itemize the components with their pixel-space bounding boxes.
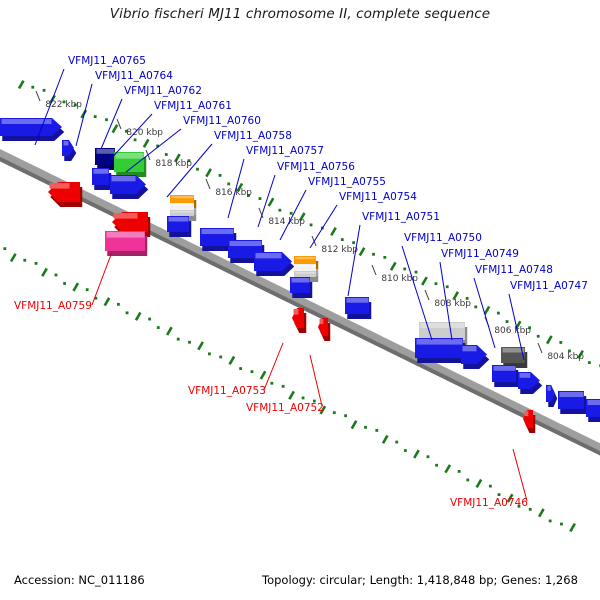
- gene-feature-forward[interactable]: [558, 391, 586, 414]
- gc-dash: [10, 253, 17, 262]
- gc-dot: [333, 411, 336, 414]
- gene-label-forward[interactable]: VFMJ11_A0765: [68, 55, 146, 67]
- gc-dot: [35, 262, 38, 265]
- gc-dash: [330, 227, 337, 236]
- gc-dot: [506, 320, 509, 323]
- gc-dot: [344, 414, 347, 417]
- gc-dot: [375, 429, 378, 432]
- gc-dash: [359, 247, 366, 256]
- gc-dot: [117, 303, 120, 306]
- leader-line-forward: [474, 278, 495, 348]
- gene-highlight: [463, 346, 477, 351]
- gene-highlight: [320, 319, 324, 324]
- gene-feature-forward[interactable]: [345, 297, 371, 319]
- gene-highlight: [230, 241, 262, 246]
- gc-dot: [588, 361, 591, 364]
- leader-line-reverse: [264, 343, 283, 390]
- gene-feature-forward[interactable]: [518, 372, 542, 394]
- gc-dot: [310, 223, 313, 226]
- gene-body: [170, 210, 194, 216]
- gc-dot: [446, 285, 449, 288]
- gene-highlight: [292, 278, 310, 282]
- gc-dot: [489, 485, 492, 488]
- gene-label-forward[interactable]: VFMJ11_A0757: [246, 145, 324, 157]
- tick-label: 806 kbp: [494, 326, 531, 336]
- gc-dot: [251, 370, 254, 373]
- tick-mark: [36, 91, 40, 101]
- gene-label-forward[interactable]: VFMJ11_A0747: [510, 280, 588, 292]
- gene-label-forward[interactable]: VFMJ11_A0748: [475, 264, 553, 276]
- gc-dot: [290, 212, 293, 215]
- gene-highlight: [64, 141, 69, 145]
- gc-dot: [219, 356, 222, 359]
- gene-label-reverse[interactable]: VFMJ11_A0759: [14, 300, 92, 312]
- gene-highlight: [294, 309, 299, 315]
- gc-dash: [205, 168, 212, 177]
- footer-bar: Accession: NC_011186 Topology: circular;…: [0, 573, 600, 591]
- gc-dot: [94, 115, 97, 118]
- gc-dot: [196, 168, 199, 171]
- gc-dot: [458, 470, 461, 473]
- gc-dot: [63, 282, 66, 285]
- gc-dot: [549, 520, 552, 523]
- gc-dash: [268, 198, 275, 207]
- gene-label-forward[interactable]: VFMJ11_A0755: [308, 176, 386, 188]
- tick-mark: [117, 119, 121, 129]
- gene-highlight: [172, 196, 194, 198]
- gc-dot: [364, 426, 367, 429]
- gc-dot: [404, 449, 407, 452]
- gc-dash: [382, 435, 389, 444]
- gene-feature-forward[interactable]: [114, 152, 146, 177]
- gc-dot: [86, 288, 89, 291]
- tick-mark: [372, 265, 376, 275]
- gene-feature-forward[interactable]: [415, 338, 465, 363]
- gene-highlight: [494, 366, 516, 371]
- gene-label-forward[interactable]: VFMJ11_A0762: [124, 85, 202, 97]
- gc-dot: [148, 318, 151, 321]
- gene-label-forward[interactable]: VFMJ11_A0750: [404, 232, 482, 244]
- gene-feature-forward[interactable]: [62, 140, 76, 161]
- gc-dot: [395, 441, 398, 444]
- gene-label-forward[interactable]: VFMJ11_A0764: [95, 70, 173, 82]
- gene-feature-forward[interactable]: [546, 385, 557, 407]
- gene-highlight: [525, 411, 529, 416]
- topology-length-genes-label: Topology: circular; Length: 1,418,848 bp…: [262, 573, 578, 587]
- gene-feature-reverse[interactable]: [105, 231, 147, 256]
- gene-label-reverse[interactable]: VFMJ11_A0753: [188, 385, 266, 397]
- gene-highlight: [296, 265, 316, 267]
- gc-dot: [341, 238, 344, 241]
- gc-dot: [403, 268, 406, 271]
- gc-dot: [219, 174, 222, 177]
- gc-dot: [435, 464, 438, 467]
- gc-dot: [435, 282, 438, 285]
- gc-dot: [239, 367, 242, 370]
- gc-dash: [18, 80, 25, 89]
- gc-dot: [529, 508, 532, 511]
- genome-map-viewer: Vibrio fischeri MJ11 chromosome II, comp…: [0, 0, 600, 600]
- leader-line-forward: [167, 144, 212, 197]
- gc-dash: [421, 276, 428, 285]
- tick-label: 804 kbp: [547, 352, 584, 362]
- gene-highlight: [296, 272, 316, 274]
- gene-highlight: [520, 373, 531, 378]
- gene-feature-forward[interactable]: [95, 148, 117, 170]
- gene-label-forward[interactable]: VFMJ11_A0751: [362, 211, 440, 223]
- leader-line-forward: [310, 205, 337, 248]
- gc-dot: [474, 305, 477, 308]
- tick-mark: [538, 343, 542, 353]
- tick-label: 818 kbp: [155, 159, 192, 169]
- gc-dot: [372, 253, 375, 256]
- gc-dot: [466, 479, 469, 482]
- gc-dash: [197, 341, 204, 350]
- gc-dot: [259, 197, 262, 200]
- gene-highlight: [347, 298, 369, 303]
- gc-dash: [228, 356, 235, 365]
- gc-dash: [351, 420, 358, 429]
- gc-dot: [383, 256, 386, 259]
- gc-dot: [23, 259, 26, 262]
- gc-dot: [105, 118, 108, 121]
- gc-dot: [208, 352, 211, 355]
- gene-highlight: [116, 153, 144, 159]
- leader-line-reverse: [92, 252, 112, 305]
- gene-label-forward[interactable]: VFMJ11_A0761: [154, 100, 232, 112]
- gene-highlight: [202, 229, 234, 234]
- gene-feature-reverse[interactable]: [48, 182, 82, 207]
- gene-highlight: [172, 211, 194, 213]
- gene-feature-forward[interactable]: [254, 252, 294, 276]
- gene-feature-forward[interactable]: [110, 175, 148, 199]
- gc-dot: [282, 385, 285, 388]
- gc-dot: [278, 209, 281, 212]
- gc-dot: [177, 338, 180, 341]
- gc-dash: [538, 508, 545, 517]
- gene-label-forward[interactable]: VFMJ11_A0754: [339, 191, 417, 203]
- accession-label: Accession: NC_011186: [14, 573, 145, 587]
- gc-dash: [546, 335, 553, 344]
- gc-dash: [444, 464, 451, 473]
- gene-label-forward[interactable]: VFMJ11_A0760: [183, 115, 261, 127]
- gc-dot: [126, 311, 129, 314]
- gene-feature-forward[interactable]: [492, 365, 518, 387]
- gc-dot: [3, 247, 6, 250]
- gene-highlight: [169, 217, 189, 221]
- gene-label-forward[interactable]: VFMJ11_A0756: [277, 161, 355, 173]
- gene-label-forward[interactable]: VFMJ11_A0758: [214, 130, 292, 142]
- gene-highlight: [417, 339, 463, 345]
- gc-dot: [270, 382, 273, 385]
- genome-map-canvas[interactable]: 822 kbp820 kbp818 kbp816 kbp814 kbp812 k…: [0, 0, 600, 600]
- gc-dot: [498, 493, 501, 496]
- tick-label: 812 kbp: [321, 245, 358, 255]
- gene-feature-forward[interactable]: [92, 168, 111, 190]
- gc-dash: [390, 262, 397, 271]
- gc-dot: [559, 341, 562, 344]
- gene-feature-reverse[interactable]: [292, 308, 306, 333]
- gene-highlight: [50, 183, 70, 189]
- gc-dash: [288, 391, 295, 400]
- gene-highlight: [548, 386, 551, 391]
- gene-highlight: [114, 213, 138, 219]
- leader-line-forward: [76, 84, 92, 146]
- gc-dash: [112, 124, 119, 133]
- gc-dash: [166, 327, 173, 336]
- gene-highlight: [172, 204, 194, 206]
- gc-dash: [72, 282, 79, 291]
- gc-dash: [413, 450, 420, 459]
- gene-highlight: [94, 169, 109, 174]
- gc-dot: [302, 397, 305, 400]
- gc-dash: [135, 312, 142, 321]
- gene-feature-forward[interactable]: [0, 118, 64, 141]
- gc-dot: [227, 183, 230, 186]
- tick-label: 808 kbp: [434, 299, 471, 309]
- gc-dash: [41, 268, 48, 277]
- gene-body: [294, 271, 316, 277]
- gc-dot: [55, 274, 58, 277]
- gene-highlight: [107, 232, 145, 238]
- gc-dash: [569, 523, 576, 532]
- gene-label-reverse[interactable]: VFMJ11_A0752: [246, 402, 324, 414]
- gene-highlight: [256, 253, 282, 258]
- gene-label-forward[interactable]: VFMJ11_A0749: [441, 248, 519, 260]
- gene-highlight: [296, 257, 316, 259]
- leader-line-forward: [348, 225, 360, 296]
- gene-feature-forward[interactable]: [461, 345, 489, 369]
- gc-dot: [537, 335, 540, 338]
- gc-dot: [31, 86, 34, 89]
- leader-line-forward: [402, 246, 432, 340]
- gc-dot: [134, 138, 137, 141]
- gc-dash: [104, 297, 111, 306]
- gene-highlight: [560, 392, 584, 397]
- gc-dash: [143, 139, 150, 148]
- gene-highlight: [112, 176, 136, 181]
- gc-dot: [427, 455, 430, 458]
- gene-highlight: [97, 149, 115, 154]
- gc-dot: [497, 312, 500, 315]
- tick-mark: [206, 179, 210, 189]
- gene-feature-forward[interactable]: [290, 277, 312, 298]
- gene-feature-forward[interactable]: [586, 399, 600, 422]
- gene-label-reverse[interactable]: VFMJ11_A0746: [450, 497, 528, 509]
- gc-dot: [43, 89, 46, 92]
- gc-dash: [476, 479, 483, 488]
- gc-dot: [560, 523, 563, 526]
- tick-mark: [425, 290, 429, 300]
- gene-highlight: [588, 400, 600, 405]
- gc-dot: [188, 341, 191, 344]
- tick-label: 814 kbp: [268, 217, 305, 227]
- leader-line-reverse: [310, 355, 322, 406]
- tick-label: 822 kbp: [45, 100, 82, 110]
- gene-feature-forward[interactable]: [167, 216, 191, 237]
- gc-dot: [165, 153, 168, 156]
- gc-dot: [157, 326, 160, 329]
- gc-dot: [352, 241, 355, 244]
- gc-dash: [260, 371, 267, 380]
- leader-line-reverse: [513, 449, 527, 501]
